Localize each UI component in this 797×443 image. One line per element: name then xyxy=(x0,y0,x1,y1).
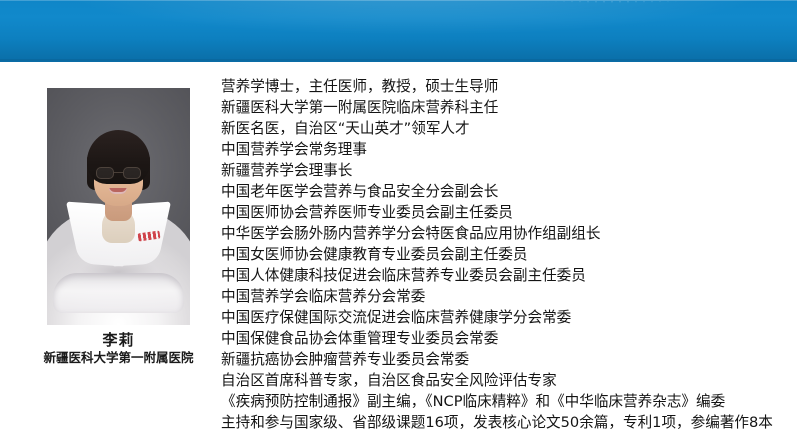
credential-line: 中国医疗保健国际交流促进会临床营养健康学分会常委 xyxy=(221,307,797,328)
glasses-lens-left xyxy=(96,167,114,179)
credential-line: 新疆营养学会理事长 xyxy=(221,160,797,181)
credential-line: 中国保健食品协会体重管理专业委员会常委 xyxy=(221,328,797,349)
credential-line: 中国老年医学会营养与食品安全分会副会长 xyxy=(221,181,797,202)
speaker-portrait-block: 李莉 新疆医科大学第一附属医院 xyxy=(47,88,190,325)
header-top-highlight xyxy=(0,0,797,1)
credential-line: 中国营养学会临床营养分会常委 xyxy=(221,286,797,307)
glasses-lens-right xyxy=(123,167,141,179)
credential-line: 主持和参与国家级、省部级课题16项，发表核心论文50余篇，专利1项，参编著作8本 xyxy=(221,412,797,433)
photo-glasses-icon xyxy=(96,167,141,179)
credential-line: 中华医学会肠外肠内营养学分会特医食品应用协作组副组长 xyxy=(221,223,797,244)
credential-line: 自治区首席科普专家，自治区食品安全风险评估专家 xyxy=(221,370,797,391)
speaker-name: 李莉 xyxy=(47,331,190,349)
speaker-affiliation: 新疆医科大学第一附属医院 xyxy=(18,350,219,366)
credential-line: 《疾病预防控制通报》副主编，《NCP临床精粹》和《中华临床营养杂志》编委 xyxy=(221,391,797,412)
dot-wave-decoration-icon xyxy=(230,0,790,36)
credential-line: 新疆医科大学第一附属医院临床营养科主任 xyxy=(221,97,797,118)
speaker-profile-slide: 李莉 新疆医科大学第一附属医院 营养学博士，主任医师，教授，硕士生导师 新疆医科… xyxy=(0,0,797,443)
dot-wave-decoration-secondary-icon xyxy=(530,0,797,34)
credential-line: 中国医师协会营养医师专业委员会副主任委员 xyxy=(221,202,797,223)
credential-line: 中国人体健康科技促进会临床营养专业委员会副主任委员 xyxy=(221,265,797,286)
credential-line: 中国女医师协会健康教育专业委员会副主任委员 xyxy=(221,244,797,265)
dot-wave-decoration-tertiary-icon xyxy=(250,0,500,30)
credential-line: 新疆抗癌协会肿瘤营养专业委员会常委 xyxy=(221,349,797,370)
glasses-bridge xyxy=(114,172,123,173)
header-band xyxy=(0,0,797,62)
credential-list: 营养学博士，主任医师，教授，硕士生导师 新疆医科大学第一附属医院临床营养科主任 … xyxy=(221,76,797,433)
speaker-caption: 李莉 新疆医科大学第一附属医院 xyxy=(47,331,190,366)
photo-crossed-arms xyxy=(53,273,184,313)
credential-line: 新医名医，自治区“天山英才”领军人才 xyxy=(221,118,797,139)
credential-line: 营养学博士，主任医师，教授，硕士生导师 xyxy=(221,76,797,97)
credential-line: 中国营养学会常务理事 xyxy=(221,139,797,160)
speaker-photo xyxy=(47,88,190,325)
